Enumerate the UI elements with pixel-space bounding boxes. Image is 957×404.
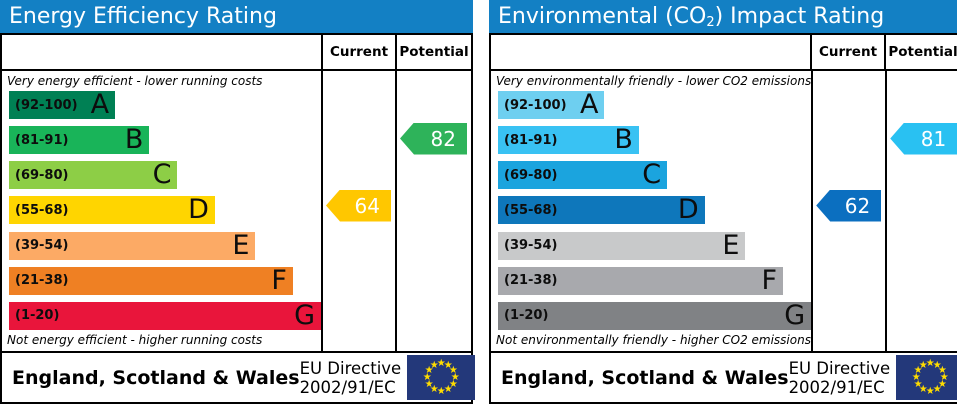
co2-footer-directive: EU Directive 2002/91/EC	[789, 359, 897, 397]
co2-band-d-letter: D	[678, 196, 699, 223]
co2-band-d-range: (55-68)	[498, 203, 557, 218]
co2-band-b: (81-91) B	[498, 126, 639, 154]
energy-band-f-range: (21-38)	[9, 273, 68, 288]
energy-panel-body: Current Potential Very energy efficient …	[0, 33, 473, 404]
co2-band-b-range: (81-91)	[498, 133, 557, 148]
co2-band-g-letter: G	[784, 302, 805, 329]
co2-header-row: Current Potential	[491, 35, 957, 71]
energy-band-a-range: (92-100)	[9, 98, 78, 113]
co2-impact-panel: Environmental (CO2) Impact Rating Curren…	[489, 0, 957, 404]
energy-band-g: (1-20) G	[9, 302, 321, 330]
energy-footer-region: England, Scotland & Wales	[2, 367, 300, 389]
energy-footer-directive-line2: 2002/91/EC	[300, 378, 402, 397]
energy-potential-value: 82	[431, 127, 456, 151]
energy-header-blank	[2, 35, 323, 69]
co2-header-current: Current	[812, 35, 886, 69]
energy-band-b: (81-91) B	[9, 126, 149, 154]
co2-panel-body: Current Potential Very environmentally f…	[489, 33, 957, 404]
co2-potential-value: 81	[921, 127, 946, 151]
energy-efficiency-panel: Energy Efficiency Rating Current Potenti…	[0, 0, 473, 404]
co2-band-a-letter: A	[580, 91, 598, 118]
energy-band-d: (55-68) D	[9, 196, 215, 224]
energy-current-arrow: 64	[326, 190, 391, 222]
co2-chart-area: Very environmentally friendly - lower CO…	[491, 71, 957, 353]
co2-band-f-letter: F	[761, 267, 777, 294]
eu-star-icon: ★	[430, 361, 439, 370]
eu-flag-icon: ★★★★★★★★★★★★	[407, 355, 475, 400]
co2-footer: England, Scotland & Wales EU Directive 2…	[491, 353, 957, 402]
energy-band-d-letter: D	[188, 196, 209, 223]
energy-band-e-letter: E	[232, 232, 249, 259]
panel-title-energy-text: Energy Efficiency Rating	[9, 4, 277, 29]
co2-band-c-range: (69-80)	[498, 168, 557, 183]
panel-title-co2-tail: ) Impact Rating	[715, 4, 885, 29]
co2-caption-top: Very environmentally friendly - lower CO…	[491, 71, 811, 91]
co2-band-e-range: (39-54)	[498, 238, 557, 253]
co2-current-arrow: 62	[816, 190, 881, 222]
energy-chart-area: Very energy efficient - lower running co…	[2, 71, 471, 353]
co2-band-list: (92-100) A (81-91) B (69-80) C (55-68)	[491, 91, 811, 330]
energy-band-g-letter: G	[294, 302, 315, 329]
energy-band-a: (92-100) A	[9, 91, 115, 119]
energy-potential-arrow: 82	[400, 123, 467, 155]
co2-header-blank	[491, 35, 812, 69]
energy-band-c-letter: C	[153, 161, 172, 188]
energy-band-list: (92-100) A (81-91) B (69-80) C (55-68)	[2, 91, 321, 330]
energy-band-e-range: (39-54)	[9, 238, 68, 253]
energy-band-g-range: (1-20)	[9, 308, 59, 323]
energy-caption-top: Very energy efficient - lower running co…	[2, 71, 321, 91]
eu-star-icon: ★	[919, 361, 928, 370]
co2-band-a: (92-100) A	[498, 91, 604, 119]
co2-band-g-range: (1-20)	[498, 308, 548, 323]
co2-band-d: (55-68) D	[498, 196, 705, 224]
energy-header-current: Current	[323, 35, 397, 69]
co2-band-g: (1-20) G	[498, 302, 811, 330]
co2-band-e-letter: E	[722, 232, 739, 259]
energy-current-value: 64	[355, 194, 380, 218]
co2-footer-directive-line1: EU Directive	[789, 359, 891, 378]
energy-footer: England, Scotland & Wales EU Directive 2…	[2, 353, 471, 402]
co2-potential-column: 81	[887, 71, 957, 351]
energy-band-f: (21-38) F	[9, 267, 293, 295]
co2-band-b-letter: B	[614, 126, 633, 153]
energy-header-row: Current Potential	[2, 35, 471, 71]
energy-bands-column: Very energy efficient - lower running co…	[2, 71, 323, 351]
energy-band-c-range: (69-80)	[9, 168, 68, 183]
panel-title-co2-main: Environmental (CO	[498, 4, 706, 29]
co2-current-column: 62	[813, 71, 887, 351]
co2-caption-bottom: Not environmentally friendly - higher CO…	[491, 330, 811, 351]
co2-bands-column: Very environmentally friendly - lower CO…	[491, 71, 813, 351]
energy-band-a-letter: A	[91, 91, 109, 118]
panel-title-co2: Environmental (CO2) Impact Rating	[489, 0, 957, 33]
eu-flag-icon: ★★★★★★★★★★★★	[896, 355, 957, 400]
energy-band-b-range: (81-91)	[9, 133, 68, 148]
energy-current-column: 64	[323, 71, 397, 351]
co2-band-e: (39-54) E	[498, 232, 745, 260]
energy-footer-directive: EU Directive 2002/91/EC	[300, 359, 408, 397]
co2-header-potential: Potential	[886, 35, 957, 69]
energy-band-f-letter: F	[271, 267, 287, 294]
co2-current-value: 62	[845, 194, 870, 218]
panel-title-energy: Energy Efficiency Rating	[0, 0, 473, 33]
energy-potential-column: 82	[397, 71, 471, 351]
co2-footer-region: England, Scotland & Wales	[491, 367, 789, 389]
energy-band-c: (69-80) C	[9, 161, 177, 189]
co2-footer-directive-line2: 2002/91/EC	[789, 378, 891, 397]
co2-band-c: (69-80) C	[498, 161, 667, 189]
co2-potential-arrow: 81	[890, 123, 957, 155]
energy-caption-bottom: Not energy efficient - higher running co…	[2, 330, 321, 351]
energy-band-b-letter: B	[125, 126, 144, 153]
energy-footer-directive-line1: EU Directive	[300, 359, 402, 378]
co2-band-f: (21-38) F	[498, 267, 783, 295]
energy-header-potential: Potential	[397, 35, 471, 69]
energy-band-e: (39-54) E	[9, 232, 255, 260]
co2-band-a-range: (92-100)	[498, 98, 567, 113]
epc-charts-page: Energy Efficiency Rating Current Potenti…	[0, 0, 957, 404]
co2-band-c-letter: C	[642, 161, 661, 188]
panel-title-co2-subscript: 2	[706, 15, 714, 30]
energy-band-d-range: (55-68)	[9, 203, 68, 218]
co2-band-f-range: (21-38)	[498, 273, 557, 288]
